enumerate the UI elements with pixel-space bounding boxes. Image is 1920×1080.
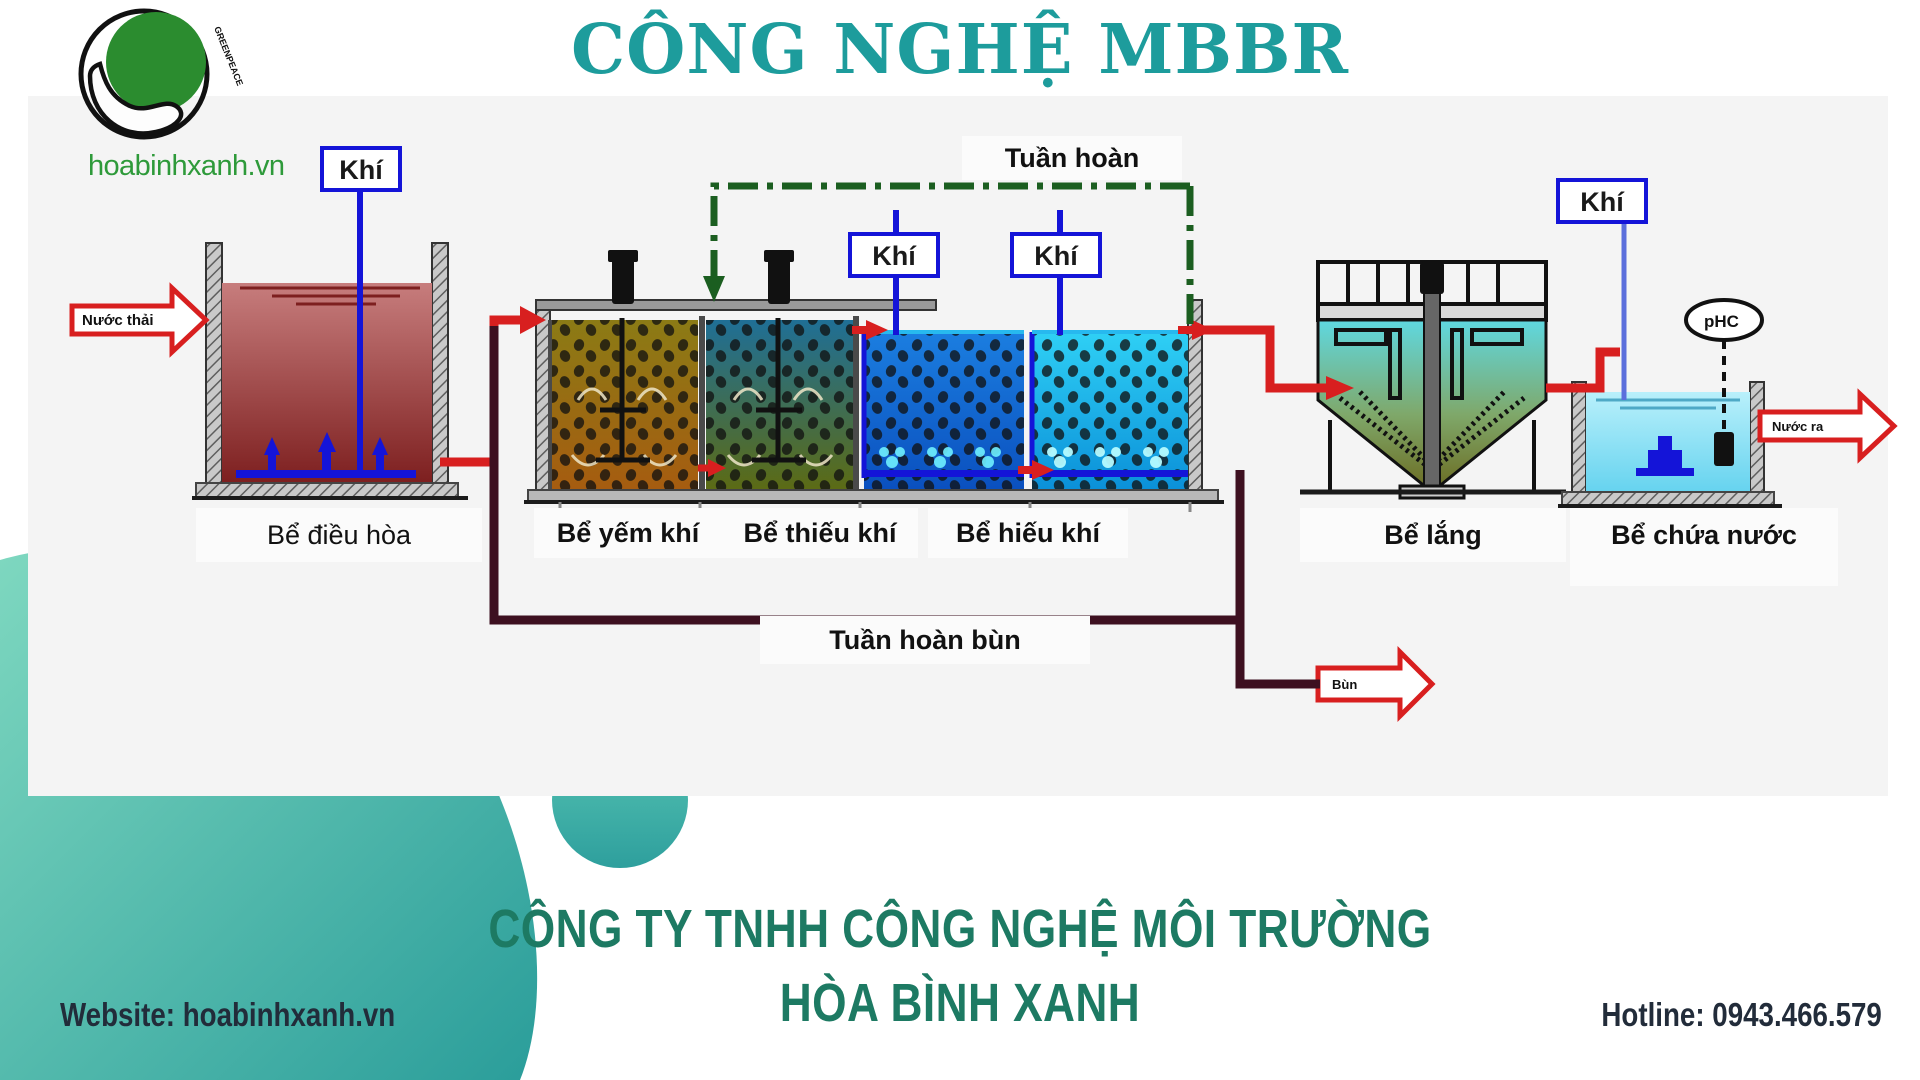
ph-dosing-label: pHC <box>1704 312 1739 332</box>
tank-caption-aerobic: Bể hiếu khí <box>928 508 1128 558</box>
tank-caption-text: Bể hiếu khí <box>956 518 1100 548</box>
outlet-arrow-label: Nước ra <box>1772 419 1823 434</box>
air-label-box-1: Khí <box>320 146 402 192</box>
flow-label-text: Tuần hoàn <box>1005 143 1140 173</box>
flow-label-text: Tuần hoàn bùn <box>829 625 1020 655</box>
tank-caption-text: Bể thiếu khí <box>743 518 896 548</box>
hotline-label[interactable]: Hotline: 0943.466.579 <box>1602 996 1882 1034</box>
tank-caption-equalization: Bể điều hòa <box>196 508 482 562</box>
tank-equalization <box>192 192 468 498</box>
tank-caption-anoxic: Bể thiếu khí <box>722 508 918 558</box>
air-label-text: Khí <box>339 155 383 185</box>
tank-caption-settling: Bể lắng <box>1300 508 1566 562</box>
tank-caption-anaerobic: Bể yếm khí <box>534 508 722 558</box>
page-title: CÔNG NGHỆ MBBR <box>0 10 1920 90</box>
website-label[interactable]: Website: hoabinhxanh.vn <box>60 996 395 1034</box>
air-label-box-4: Khí <box>1556 178 1648 224</box>
tank-caption-text: Bể lắng <box>1384 520 1482 550</box>
recirculation-water-label: Tuần hoàn <box>962 136 1182 180</box>
tank-storage <box>1558 212 1782 506</box>
air-label-text: Khí <box>1580 187 1624 217</box>
tank-settling <box>1300 262 1566 498</box>
sludge-arrow-label: Bùn <box>1332 677 1357 692</box>
tank-caption-text: Bể yếm khí <box>557 518 700 548</box>
tank-caption-storage: Bể chứa nước <box>1570 508 1838 586</box>
air-label-text: Khí <box>1034 241 1078 271</box>
recirculation-water-arrowhead <box>703 276 725 302</box>
logo-site-text: hoabinhxanh.vn <box>88 150 284 183</box>
tank-caption-text: Bể điều hòa <box>267 520 411 550</box>
air-label-text: Khí <box>872 241 916 271</box>
air-label-box-2: Khí <box>848 232 940 278</box>
company-name-line2: HÒA BÌNH XANH <box>173 972 1747 1034</box>
recirculation-sludge-label: Tuần hoàn bùn <box>760 616 1090 664</box>
air-label-box-3: Khí <box>1010 232 1102 278</box>
company-name-line1: CÔNG TY TNHH CÔNG NGHỆ MÔI TRƯỜNG <box>173 898 1747 960</box>
tank-caption-text: Bể chứa nước <box>1611 520 1797 550</box>
inlet-arrow-label: Nước thải <box>82 312 154 329</box>
